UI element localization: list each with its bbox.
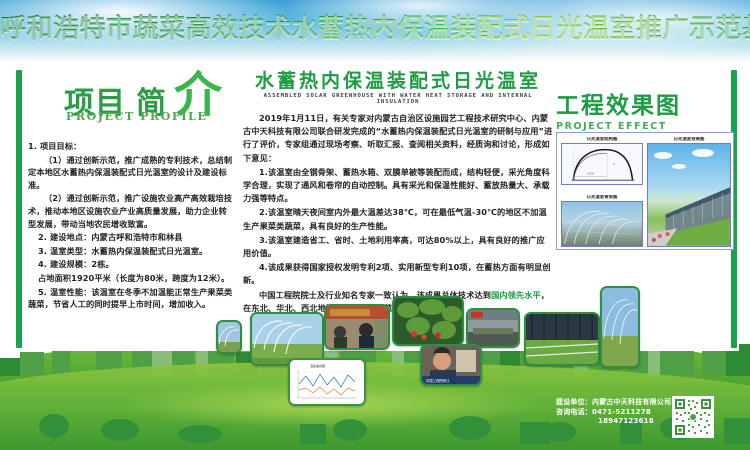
project-effect-title-cn: 工程效果图 xyxy=(556,86,736,120)
greenhouse-render-image xyxy=(647,143,731,247)
desc-line-2: 2.该温室晴天夜间室内外最大温差达38℃，可在最低气温-30℃的地区不加温生产果… xyxy=(243,206,553,232)
effect-panel-frame: 日光温室骨架图 xyxy=(561,195,643,247)
project-effect-title-en: PROJECT EFFECT xyxy=(556,121,736,132)
page-title: 呼和浩特市蔬菜高效技术水蓄热内保温装配式日光温室推广示范基地 xyxy=(0,14,750,44)
qr-code[interactable] xyxy=(672,396,714,438)
svg-text:12000: 12000 xyxy=(587,172,595,175)
profile-line-3: 2. 建设地点：内蒙古呼和浩特市和林县 xyxy=(28,231,234,244)
project-profile-body: 1. 项目目标： （1）通过创新示范，推广成熟的专利技术，总结制定本地区水蓄热内… xyxy=(28,140,234,311)
frame-structure-photo xyxy=(562,202,642,246)
desc-conclusion: 中国工程院院士及行业知名专家一致认为，该成果总体技术达到国内领先水平，在东北、华… xyxy=(243,289,553,315)
profile-line-6: 占地面积1920平米（长度为80米，跨度为12米）。 xyxy=(28,272,234,285)
profile-line-0: 1. 项目目标： xyxy=(28,140,234,153)
greenhouse-body: 2019年1月11日，有关专家对内蒙古自治区设施园艺工程技术研究中心、内蒙古中天… xyxy=(243,112,553,315)
greenhouse-description-column: 水蓄热内保温装配式日光温室 ASSEMBLED SOLAR GREENHOUSE… xyxy=(243,70,553,306)
conclusion-pre: 中国工程院院士及行业知名专家一致认为，该成果总体技术达到 xyxy=(259,290,491,300)
greenhouse-title-en: ASSEMBLED SOLAR GREENHOUSE WITH WATER HE… xyxy=(243,93,553,105)
effect-panel-render: 日光温室效果图 xyxy=(647,137,731,247)
structure-diagram-image: 12000 R xyxy=(561,143,643,185)
profile-line-4: 3. 温室类型：水蓄热内保温装配式日光温室。 xyxy=(28,245,234,258)
greenhouse-building-render xyxy=(648,144,730,246)
desc-line-0: 2019年1月11日，有关专家对内蒙古自治区设施园艺工程技术研究中心、内蒙古中天… xyxy=(243,112,553,165)
panel-accent-left xyxy=(16,70,22,348)
project-effect-heading: 工程效果图 PROJECT EFFECT xyxy=(556,86,736,132)
project-effect-grid: 日光温室结构图 12000 R 日光温室效果 xyxy=(556,132,734,250)
profile-line-5: 4. 建设规模：2栋。 xyxy=(28,258,234,271)
greenhouse-section-drawing: 12000 R xyxy=(562,144,642,184)
contact-phone-1: 0471-5211278 xyxy=(592,408,651,416)
qr-code-image xyxy=(673,397,713,437)
project-profile-title-en: PROJECT PROFILE xyxy=(66,110,207,123)
contact-unit-value: 内蒙古中天科技有限公司 xyxy=(592,398,671,406)
desc-line-3: 3.该温室建造省工、省时、土地利用率高，可达80%以上，具有良好的推广应用价值。 xyxy=(243,234,553,260)
contact-phone-label: 咨询电话： xyxy=(556,408,592,416)
contact-unit-label: 建设单位： xyxy=(556,398,592,406)
profile-line-2: （2）通过创新示范，推广设施农业高产高效栽培技术，推动本地区设施农业产业高质量发… xyxy=(28,192,234,230)
desc-line-4: 4.该成果获得国家授权发明专利2项、实用新型专利10项，在蓄热方面有明显创新。 xyxy=(243,261,553,287)
profile-line-7: 5. 温室性能：该温室在冬季不加温能正常生产果菜类蔬菜，节省人工的同时提早上市时… xyxy=(28,286,234,311)
project-profile-column: 项目 简 介 PROJECT PROFILE 1. 项目目标： （1）通过创新示… xyxy=(28,74,234,344)
project-profile-heading: 项目 简 介 PROJECT PROFILE xyxy=(28,74,234,136)
qr-code-pattern xyxy=(673,397,713,437)
greenhouse-title-cn: 水蓄热内保温装配式日光温室 xyxy=(243,70,553,92)
profile-line-1: （1）通过创新示范，推广成熟的专利技术，总结制定本地区水蓄热内保温装配式日光温室… xyxy=(28,154,234,192)
desc-line-1: 1.该温室由全钢骨架、蓄热水箱、双膜单被等装配而成，结构轻便，采光角度科学合理，… xyxy=(243,166,553,206)
project-effect-column: 工程效果图 PROJECT EFFECT 日光温室结构图 12000 xyxy=(556,86,736,266)
effect-panel-structure: 日光温室结构图 12000 R xyxy=(561,137,643,185)
conclusion-highlight: 国内领先水平 xyxy=(491,290,541,300)
poster-root: 呼和浩特市蔬菜高效技术水蓄热内保温装配式日光温室推广示范基地 xyxy=(0,0,750,450)
steel-frame-image xyxy=(561,201,643,247)
